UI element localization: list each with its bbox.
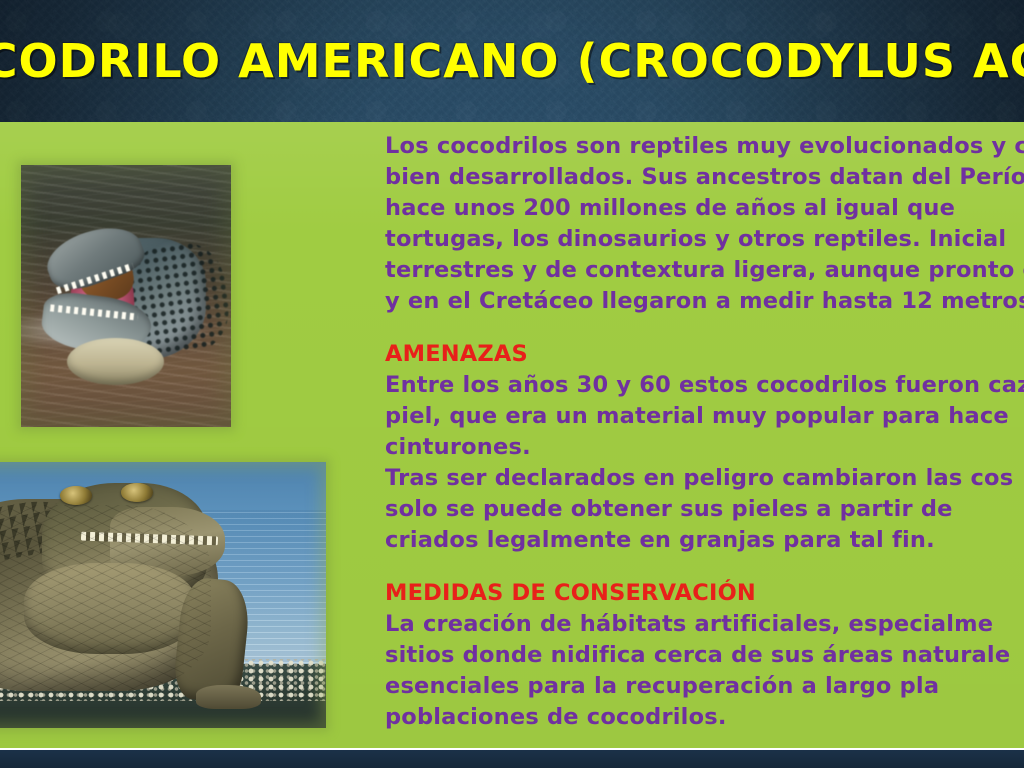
- text-line: hace unos 200 millones de años al igual …: [385, 193, 1024, 224]
- text-line: esenciales para la recuperación a largo …: [385, 671, 1024, 702]
- text-line: Tras ser declarados en peligro cambiaron…: [385, 463, 1024, 494]
- text-line: piel, que era un material muy popular pa…: [385, 401, 1024, 432]
- text-line: Entre los años 30 y 60 estos cocodrilos …: [385, 370, 1024, 401]
- intro-paragraph: Los cocodrilos son reptiles muy evolucio…: [385, 131, 1024, 317]
- text-line: cinturones.: [385, 432, 1024, 463]
- text-line: bien desarrollados. Sus ancestros datan …: [385, 162, 1024, 193]
- text-line: y en el Cretáceo llegaron a medir hasta …: [385, 286, 1024, 317]
- text-line: poblaciones de cocodrilos.: [385, 702, 1024, 733]
- conservation-section: MEDIDAS DE CONSERVACIÓN La creación de h…: [385, 578, 1024, 733]
- body-text-column: Los cocodrilos son reptiles muy evolucio…: [385, 131, 1024, 733]
- title-band: COCODRILO AMERICANO (CROCODYLUS ACUT: [0, 0, 1024, 122]
- crocodile-open-jaws-photo[interactable]: [21, 165, 231, 427]
- text-line: terrestres y de contextura ligera, aunqu…: [385, 255, 1024, 286]
- photo-top-canvas: [21, 165, 231, 427]
- presentation-slide: COCODRILO AMERICANO (CROCODYLUS ACUT: [0, 0, 1024, 768]
- text-line: Los cocodrilos son reptiles muy evolucio…: [385, 131, 1024, 162]
- crocodile-on-shore-photo[interactable]: [0, 462, 326, 728]
- conservation-heading: MEDIDAS DE CONSERVACIÓN: [385, 578, 1024, 609]
- photo-soft-edge: [21, 165, 231, 427]
- text-line: solo se puede obtener sus pieles a parti…: [385, 494, 1024, 525]
- text-line: tortugas, los dinosaurios y otros reptil…: [385, 224, 1024, 255]
- text-line: La creación de hábitats artificiales, es…: [385, 609, 1024, 640]
- slide-title: COCODRILO AMERICANO (CROCODYLUS ACUT: [0, 34, 1024, 88]
- photo-bottom-canvas: [0, 462, 326, 728]
- text-line: sitios donde nidifica cerca de sus áreas…: [385, 640, 1024, 671]
- threats-section: AMENAZAS Entre los años 30 y 60 estos co…: [385, 339, 1024, 556]
- text-line: criados legalmente en granjas para tal f…: [385, 525, 1024, 556]
- photo-soft-edge: [0, 462, 326, 728]
- paragraph-spacer: [385, 317, 1024, 339]
- threats-heading: AMENAZAS: [385, 339, 1024, 370]
- slide-footer-band: [0, 748, 1024, 768]
- paragraph-spacer: [385, 556, 1024, 578]
